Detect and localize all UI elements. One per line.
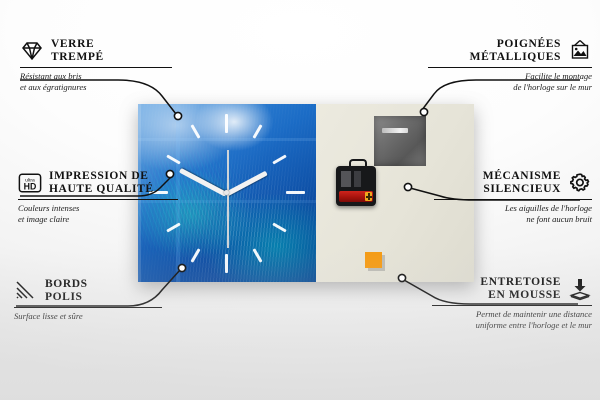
callout-header: POIGNÉES MÉTALLIQUES — [428, 38, 592, 64]
clock-mechanism — [336, 166, 376, 206]
callout-rule — [14, 307, 162, 308]
ultra-hd-icon: ultra HD — [18, 171, 42, 195]
mechanism-hanging-tab — [349, 159, 367, 170]
callout-rule — [18, 199, 178, 200]
callout-impression-haute-qualite[interactable]: ultra HD IMPRESSION DE HAUTE QUALITÉ Cou… — [18, 170, 178, 224]
product-image — [138, 104, 474, 282]
callout-title-line1: IMPRESSION DE — [49, 170, 154, 183]
callout-title-line1: ENTRETOISE — [480, 276, 561, 289]
callout-bords-polis[interactable]: BORDS POLIS Surface lisse et sûre — [14, 278, 162, 322]
callout-header: ENTRETOISE EN MOUSSE — [432, 276, 592, 302]
battery — [339, 191, 373, 202]
callout-mecanisme-silencieux[interactable]: MÉCANISME SILENCIEUX Les aiguilles de l'… — [434, 170, 592, 224]
callout-title-line2: HAUTE QUALITÉ — [49, 183, 154, 196]
callout-subtitle-line2: et aux égratignures — [20, 82, 172, 93]
callout-title-line1: BORDS — [45, 278, 88, 291]
callout-verre-trempe[interactable]: VERRE TREMPÉ Résistant aux bris et aux é… — [20, 38, 172, 92]
foam-spacer — [365, 252, 382, 268]
mechanism-detail — [341, 171, 371, 187]
hanger-slot — [382, 128, 408, 133]
callout-title-line2: EN MOUSSE — [480, 289, 561, 302]
clock-tick — [286, 191, 305, 194]
foam-spacer-icon — [568, 277, 592, 301]
callout-poignees-metalliques[interactable]: POIGNÉES MÉTALLIQUES Facilite le montage… — [428, 38, 592, 92]
callout-title-line2: POLIS — [45, 291, 88, 304]
callout-rule — [434, 199, 592, 200]
metal-hanger-plate — [374, 116, 426, 166]
clock-second-hand — [227, 150, 229, 248]
gear-icon — [568, 171, 592, 195]
callout-title-line2: TREMPÉ — [51, 51, 104, 64]
polished-edge-icon — [14, 279, 38, 303]
callout-header: VERRE TREMPÉ — [20, 38, 172, 64]
clock-tick — [225, 254, 228, 273]
clock-center-cap — [224, 190, 229, 195]
callout-subtitle-line1: Permet de maintenir une distance — [432, 309, 592, 320]
callout-title-line1: POIGNÉES — [470, 38, 561, 51]
callout-subtitle-line1: Résistant aux bris — [20, 71, 172, 82]
callout-entretoise-en-mousse[interactable]: ENTRETOISE EN MOUSSE Permet de maintenir… — [432, 276, 592, 330]
callout-subtitle-line2: uniforme entre l'horloge et le mur — [432, 320, 592, 331]
picture-hanger-icon — [568, 39, 592, 63]
callout-subtitle-line2: et image claire — [18, 214, 178, 225]
callout-rule — [20, 67, 172, 68]
callout-subtitle-line1: Les aiguilles de l'horloge — [434, 203, 592, 214]
product-infographic: VERRE TREMPÉ Résistant aux bris et aux é… — [0, 0, 600, 400]
callout-subtitle-line1: Facilite le montage — [428, 71, 592, 82]
battery-plus-terminal — [365, 192, 372, 201]
callout-title-line2: SILENCIEUX — [483, 183, 561, 196]
diamond-icon — [20, 39, 44, 63]
callout-rule — [432, 305, 592, 306]
callout-header: BORDS POLIS — [14, 278, 162, 304]
callout-header: MÉCANISME SILENCIEUX — [434, 170, 592, 196]
callout-title-line1: VERRE — [51, 38, 104, 51]
callout-subtitle-line1: Surface lisse et sûre — [14, 311, 162, 322]
callout-header: ultra HD IMPRESSION DE HAUTE QUALITÉ — [18, 170, 178, 196]
callout-subtitle-line2: de l'horloge sur le mur — [428, 82, 592, 93]
callout-subtitle-line2: ne font aucun bruit — [434, 214, 592, 225]
svg-text:HD: HD — [24, 181, 37, 191]
callout-rule — [428, 67, 592, 68]
clock-tick — [225, 114, 228, 133]
callout-title-line1: MÉCANISME — [483, 170, 561, 183]
callout-subtitle-line1: Couleurs intenses — [18, 203, 178, 214]
callout-title-line2: MÉTALLIQUES — [470, 51, 561, 64]
